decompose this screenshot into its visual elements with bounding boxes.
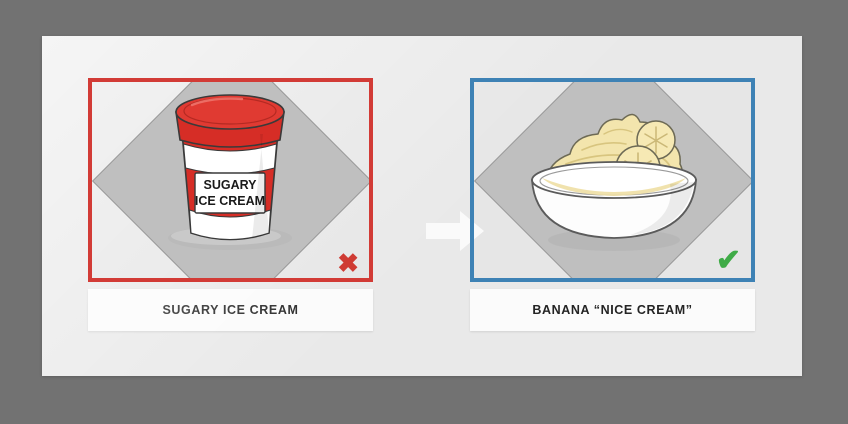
caption-label-bad: SUGARY ICE CREAM [162,303,298,317]
cross-icon: ✖ [337,250,359,276]
tub-label-line-2: ICE CREAM [195,194,265,208]
caption-bar-good: BANANA “NICE CREAM” [470,289,755,331]
check-icon: ✔ [716,246,741,276]
tub-label-line-1: SUGARY [203,178,257,192]
panel-bad-option[interactable]: SUGARY ICE CREAM ✖ SUGARY ICE CREAM [88,78,373,331]
comparison-card: SUGARY ICE CREAM ✖ SUGARY ICE CREAM [42,36,802,376]
sugary-ice-cream-tub-illustration: SUGARY ICE CREAM [88,78,373,282]
arrow-right-icon [424,208,486,254]
caption-bar-bad: SUGARY ICE CREAM [88,289,373,331]
banana-nice-cream-bowl-illustration [470,78,755,282]
image-frame-bad: SUGARY ICE CREAM ✖ [88,78,373,282]
screenshot-stage: SUGARY ICE CREAM ✖ SUGARY ICE CREAM [0,0,848,424]
panel-good-option[interactable]: ✔ BANANA “NICE CREAM” [470,78,755,331]
image-frame-good: ✔ [470,78,755,282]
caption-label-good: BANANA “NICE CREAM” [532,303,692,317]
